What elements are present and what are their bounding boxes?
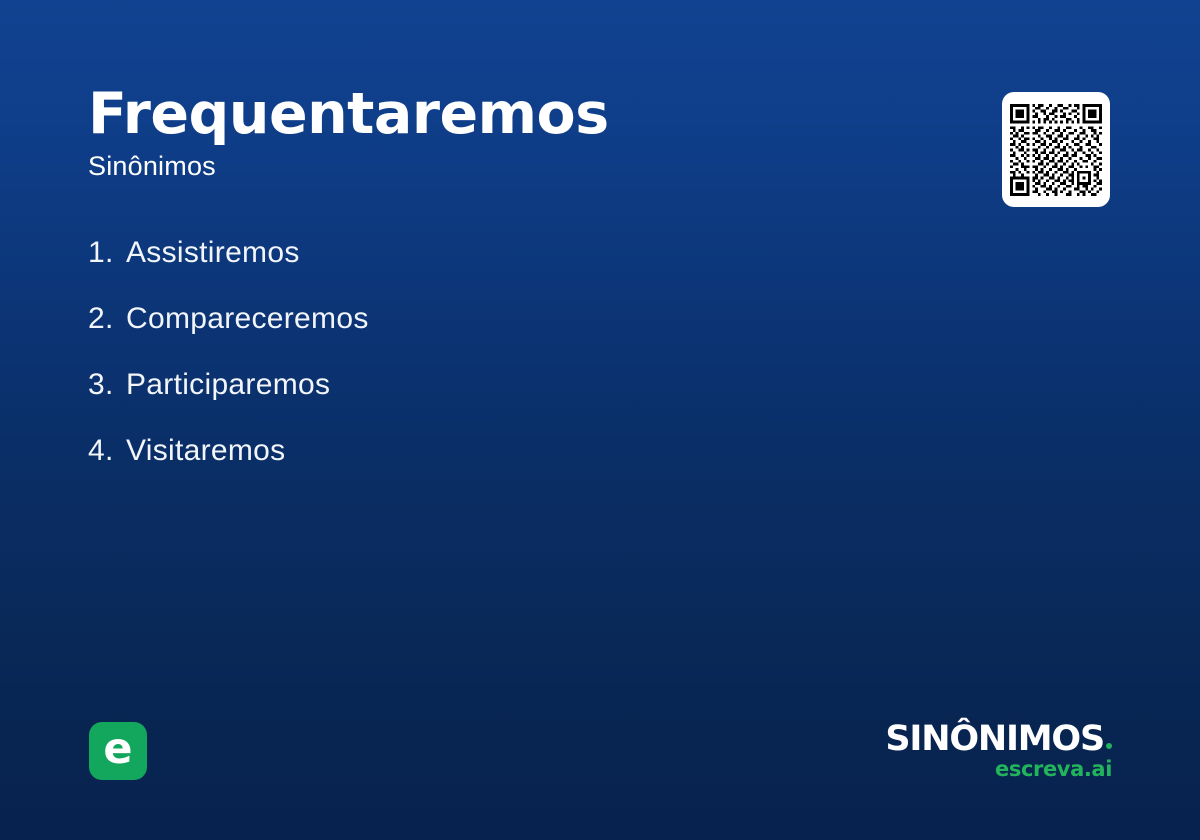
- synonym-card: Frequentaremos Sinônimos 1. Assistiremos…: [0, 0, 1200, 840]
- header-block: Frequentaremos Sinônimos: [88, 84, 948, 182]
- list-item-index: 2.: [88, 302, 126, 336]
- list-item-word: Assistiremos: [126, 236, 300, 270]
- app-badge-letter: e: [103, 728, 132, 771]
- list-item-word: Visitaremos: [126, 434, 285, 468]
- list-item-index: 4.: [88, 434, 126, 468]
- brand-lockup: SINÔNIMOS escreva.ai: [885, 722, 1112, 780]
- qr-code-panel[interactable]: [1002, 92, 1110, 207]
- list-item-index: 1.: [88, 236, 126, 270]
- list-item-word: Compareceremos: [126, 302, 369, 336]
- list-item: 2. Compareceremos: [88, 302, 908, 368]
- brand-dot-icon: [1106, 743, 1112, 749]
- brand-subtitle: escreva.ai: [885, 759, 1112, 780]
- list-item-word: Participaremos: [126, 368, 330, 402]
- brand-name: SINÔNIMOS: [885, 722, 1104, 757]
- escreva-app-icon[interactable]: e: [89, 722, 147, 780]
- page-title: Frequentaremos: [88, 84, 948, 144]
- list-item-index: 3.: [88, 368, 126, 402]
- list-item: 1. Assistiremos: [88, 236, 908, 302]
- page-subtitle: Sinônimos: [88, 152, 948, 182]
- brand-name-row: SINÔNIMOS: [885, 722, 1112, 757]
- list-item: 4. Visitaremos: [88, 434, 908, 500]
- synonyms-list: 1. Assistiremos 2. Compareceremos 3. Par…: [88, 236, 908, 500]
- list-item: 3. Participaremos: [88, 368, 908, 434]
- qr-code-icon: [1010, 104, 1102, 196]
